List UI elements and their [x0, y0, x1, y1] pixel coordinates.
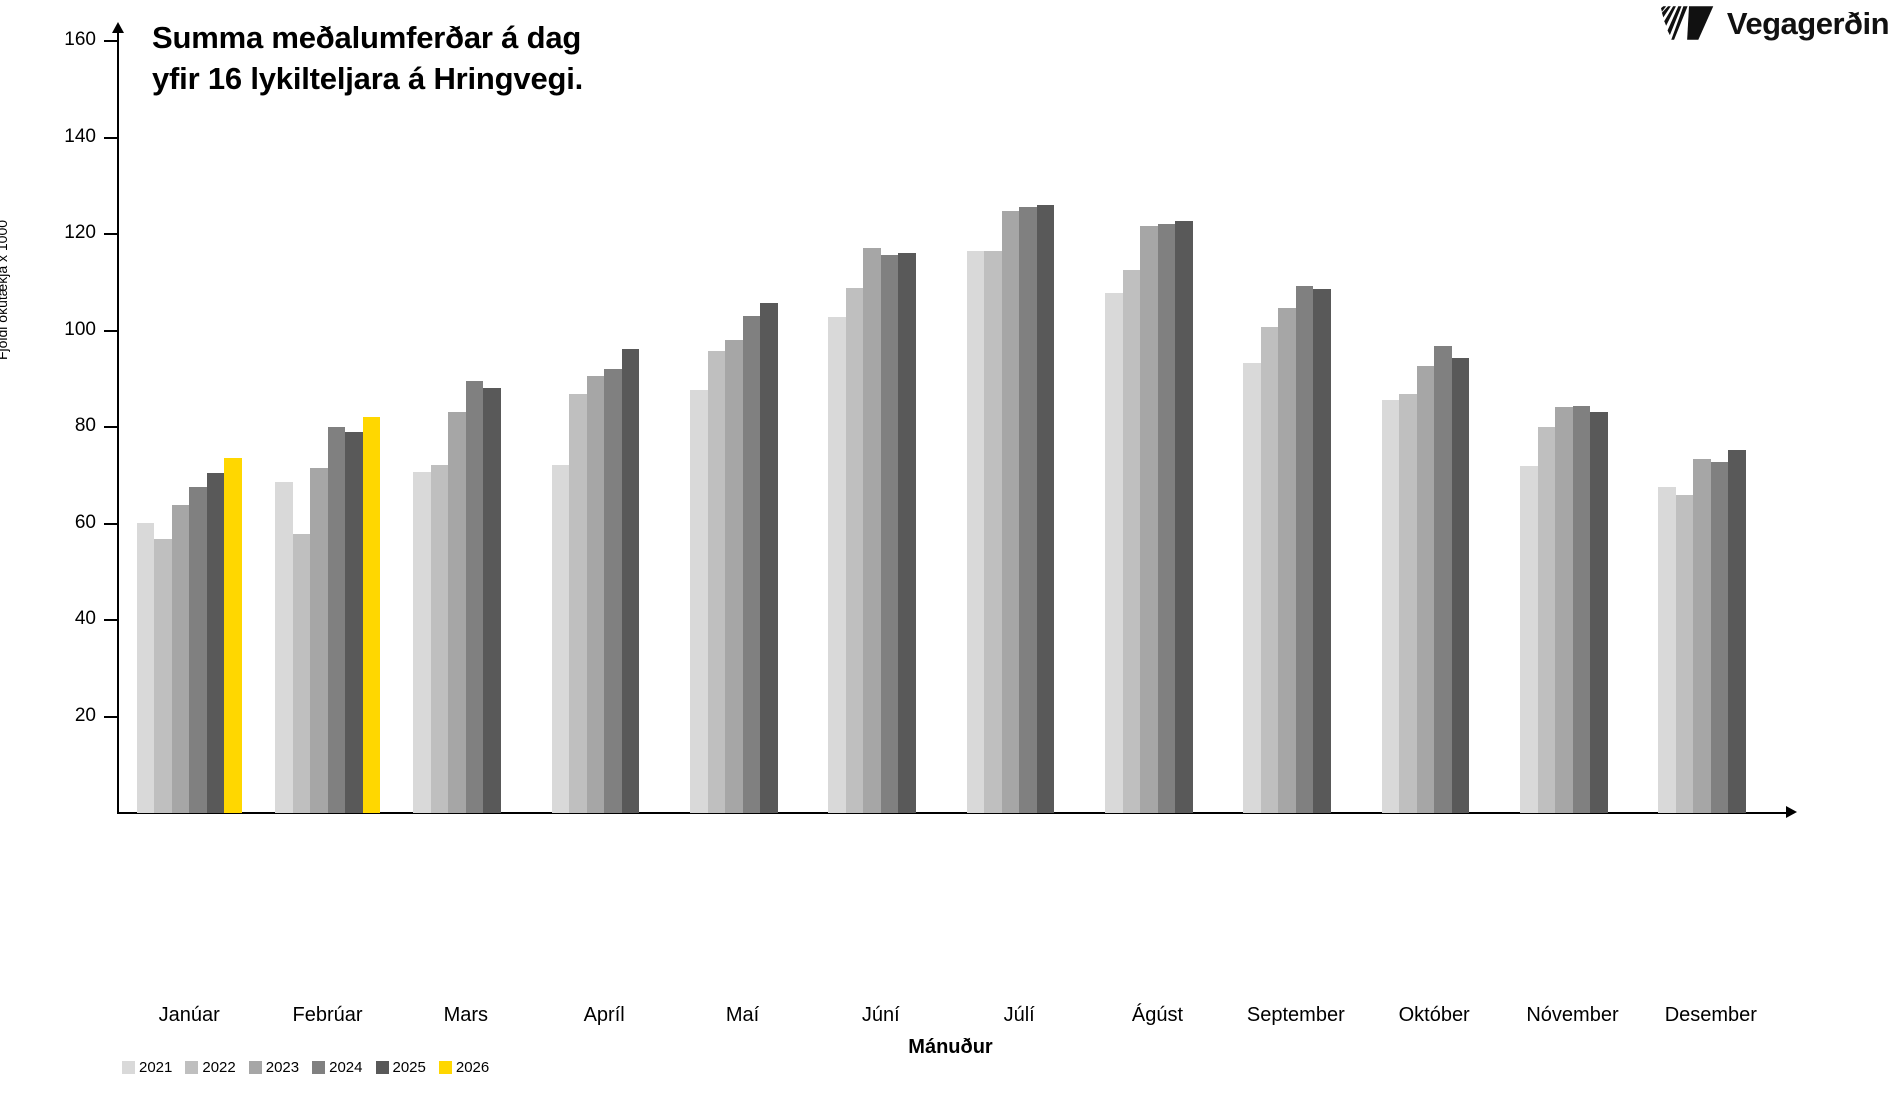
bar[interactable] [1313, 289, 1331, 813]
bar[interactable] [1037, 205, 1055, 813]
legend-label: 2025 [393, 1060, 426, 1075]
legend-item[interactable]: 2026 [439, 1060, 489, 1075]
bar[interactable] [725, 340, 743, 813]
bar[interactable] [1278, 308, 1296, 813]
bar[interactable] [328, 427, 346, 813]
bar[interactable] [293, 534, 311, 813]
bar[interactable] [1676, 495, 1694, 813]
bar[interactable] [1417, 366, 1435, 813]
bar[interactable] [483, 388, 501, 813]
bar-group [1243, 0, 1348, 813]
bar[interactable] [1452, 358, 1470, 813]
legend-swatch-icon [439, 1061, 452, 1074]
bar[interactable] [708, 351, 726, 813]
bar[interactable] [1399, 394, 1417, 813]
bar[interactable] [828, 317, 846, 813]
bar[interactable] [413, 472, 431, 813]
bar[interactable] [207, 473, 225, 813]
bar[interactable] [1019, 207, 1037, 814]
bar[interactable] [310, 468, 328, 813]
bar-group [1658, 0, 1763, 813]
bar[interactable] [863, 248, 881, 813]
bar[interactable] [1243, 363, 1261, 813]
bar-group [275, 0, 380, 813]
bar[interactable] [984, 251, 1002, 813]
bar[interactable] [569, 394, 587, 813]
x-tick-label: Desember [1621, 1004, 1801, 1027]
x-axis-title: Mánuður [0, 1036, 1901, 1059]
bar-group [137, 0, 242, 813]
bar[interactable] [1693, 459, 1711, 813]
legend-swatch-icon [376, 1061, 389, 1074]
bar[interactable] [363, 417, 381, 813]
bar[interactable] [690, 390, 708, 813]
bar[interactable] [898, 253, 916, 813]
bar[interactable] [224, 458, 242, 813]
bar[interactable] [1538, 427, 1556, 813]
bar[interactable] [275, 482, 293, 813]
bar[interactable] [1158, 224, 1176, 813]
bar[interactable] [1123, 270, 1141, 813]
legend-label: 2026 [456, 1060, 489, 1075]
bar[interactable] [466, 381, 484, 813]
bar[interactable] [431, 465, 449, 813]
bar[interactable] [1590, 412, 1608, 813]
chart-legend: 202120222023202420252026 [122, 1060, 498, 1075]
bar[interactable] [137, 523, 155, 813]
legend-label: 2021 [139, 1060, 172, 1075]
legend-swatch-icon [312, 1061, 325, 1074]
bar[interactable] [760, 303, 778, 813]
bar-group [1105, 0, 1210, 813]
bar[interactable] [552, 465, 570, 813]
bar[interactable] [345, 432, 363, 813]
legend-item[interactable]: 2025 [376, 1060, 426, 1075]
bar[interactable] [846, 288, 864, 813]
bar-group [690, 0, 795, 813]
legend-label: 2023 [266, 1060, 299, 1075]
bar[interactable] [587, 376, 605, 813]
bar[interactable] [881, 255, 899, 813]
bar[interactable] [743, 316, 761, 813]
bar[interactable] [1573, 406, 1591, 813]
bar-group [1382, 0, 1487, 813]
legend-label: 2022 [202, 1060, 235, 1075]
bar[interactable] [1658, 487, 1676, 813]
bar-group [552, 0, 657, 813]
bar[interactable] [967, 251, 985, 813]
legend-item[interactable]: 2024 [312, 1060, 362, 1075]
legend-item[interactable]: 2023 [249, 1060, 299, 1075]
bar[interactable] [604, 369, 622, 813]
bar-group [828, 0, 933, 813]
legend-swatch-icon [185, 1061, 198, 1074]
bar[interactable] [622, 349, 640, 813]
legend-swatch-icon [249, 1061, 262, 1074]
bar-group [967, 0, 1072, 813]
bar[interactable] [1002, 211, 1020, 813]
bar[interactable] [1261, 327, 1279, 813]
bar[interactable] [1296, 286, 1314, 813]
bar[interactable] [1711, 462, 1729, 813]
bar[interactable] [1105, 293, 1123, 813]
legend-item[interactable]: 2021 [122, 1060, 172, 1075]
bar[interactable] [1434, 346, 1452, 813]
bar-group [1520, 0, 1625, 813]
bar[interactable] [1520, 466, 1538, 813]
bar[interactable] [1728, 450, 1746, 813]
legend-label: 2024 [329, 1060, 362, 1075]
bar[interactable] [1175, 221, 1193, 814]
legend-swatch-icon [122, 1061, 135, 1074]
bar[interactable] [189, 487, 207, 813]
bar[interactable] [154, 539, 172, 813]
bar[interactable] [1382, 400, 1400, 813]
bar[interactable] [1555, 407, 1573, 813]
bar[interactable] [1140, 226, 1158, 813]
bar[interactable] [172, 505, 190, 813]
bar-plot-area [0, 0, 1901, 813]
bar-group [413, 0, 518, 813]
legend-item[interactable]: 2022 [185, 1060, 235, 1075]
bar[interactable] [448, 412, 466, 813]
